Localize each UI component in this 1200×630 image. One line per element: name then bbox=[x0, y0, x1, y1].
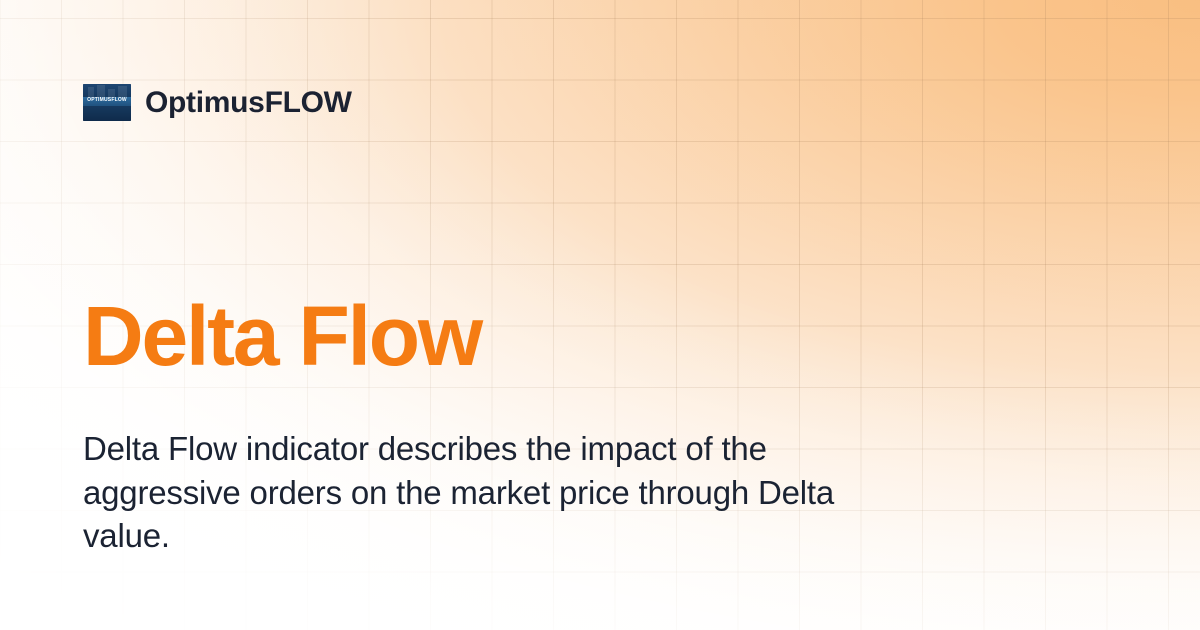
optimusflow-logo-icon: OPTIMUSFLOW bbox=[83, 84, 131, 121]
og-card: OPTIMUSFLOW OptimusFLOW Delta Flow Delta… bbox=[0, 0, 1200, 630]
logo-wordmark-small: OPTIMUSFLOW bbox=[83, 98, 131, 103]
page-title: Delta Flow bbox=[83, 294, 481, 378]
page-description: Delta Flow indicator describes the impac… bbox=[83, 427, 883, 558]
brand-lockup[interactable]: OPTIMUSFLOW OptimusFLOW bbox=[83, 84, 352, 121]
brand-name: OptimusFLOW bbox=[145, 88, 352, 118]
card-content: OPTIMUSFLOW OptimusFLOW Delta Flow Delta… bbox=[0, 0, 1200, 630]
logo-base-band bbox=[83, 106, 131, 121]
